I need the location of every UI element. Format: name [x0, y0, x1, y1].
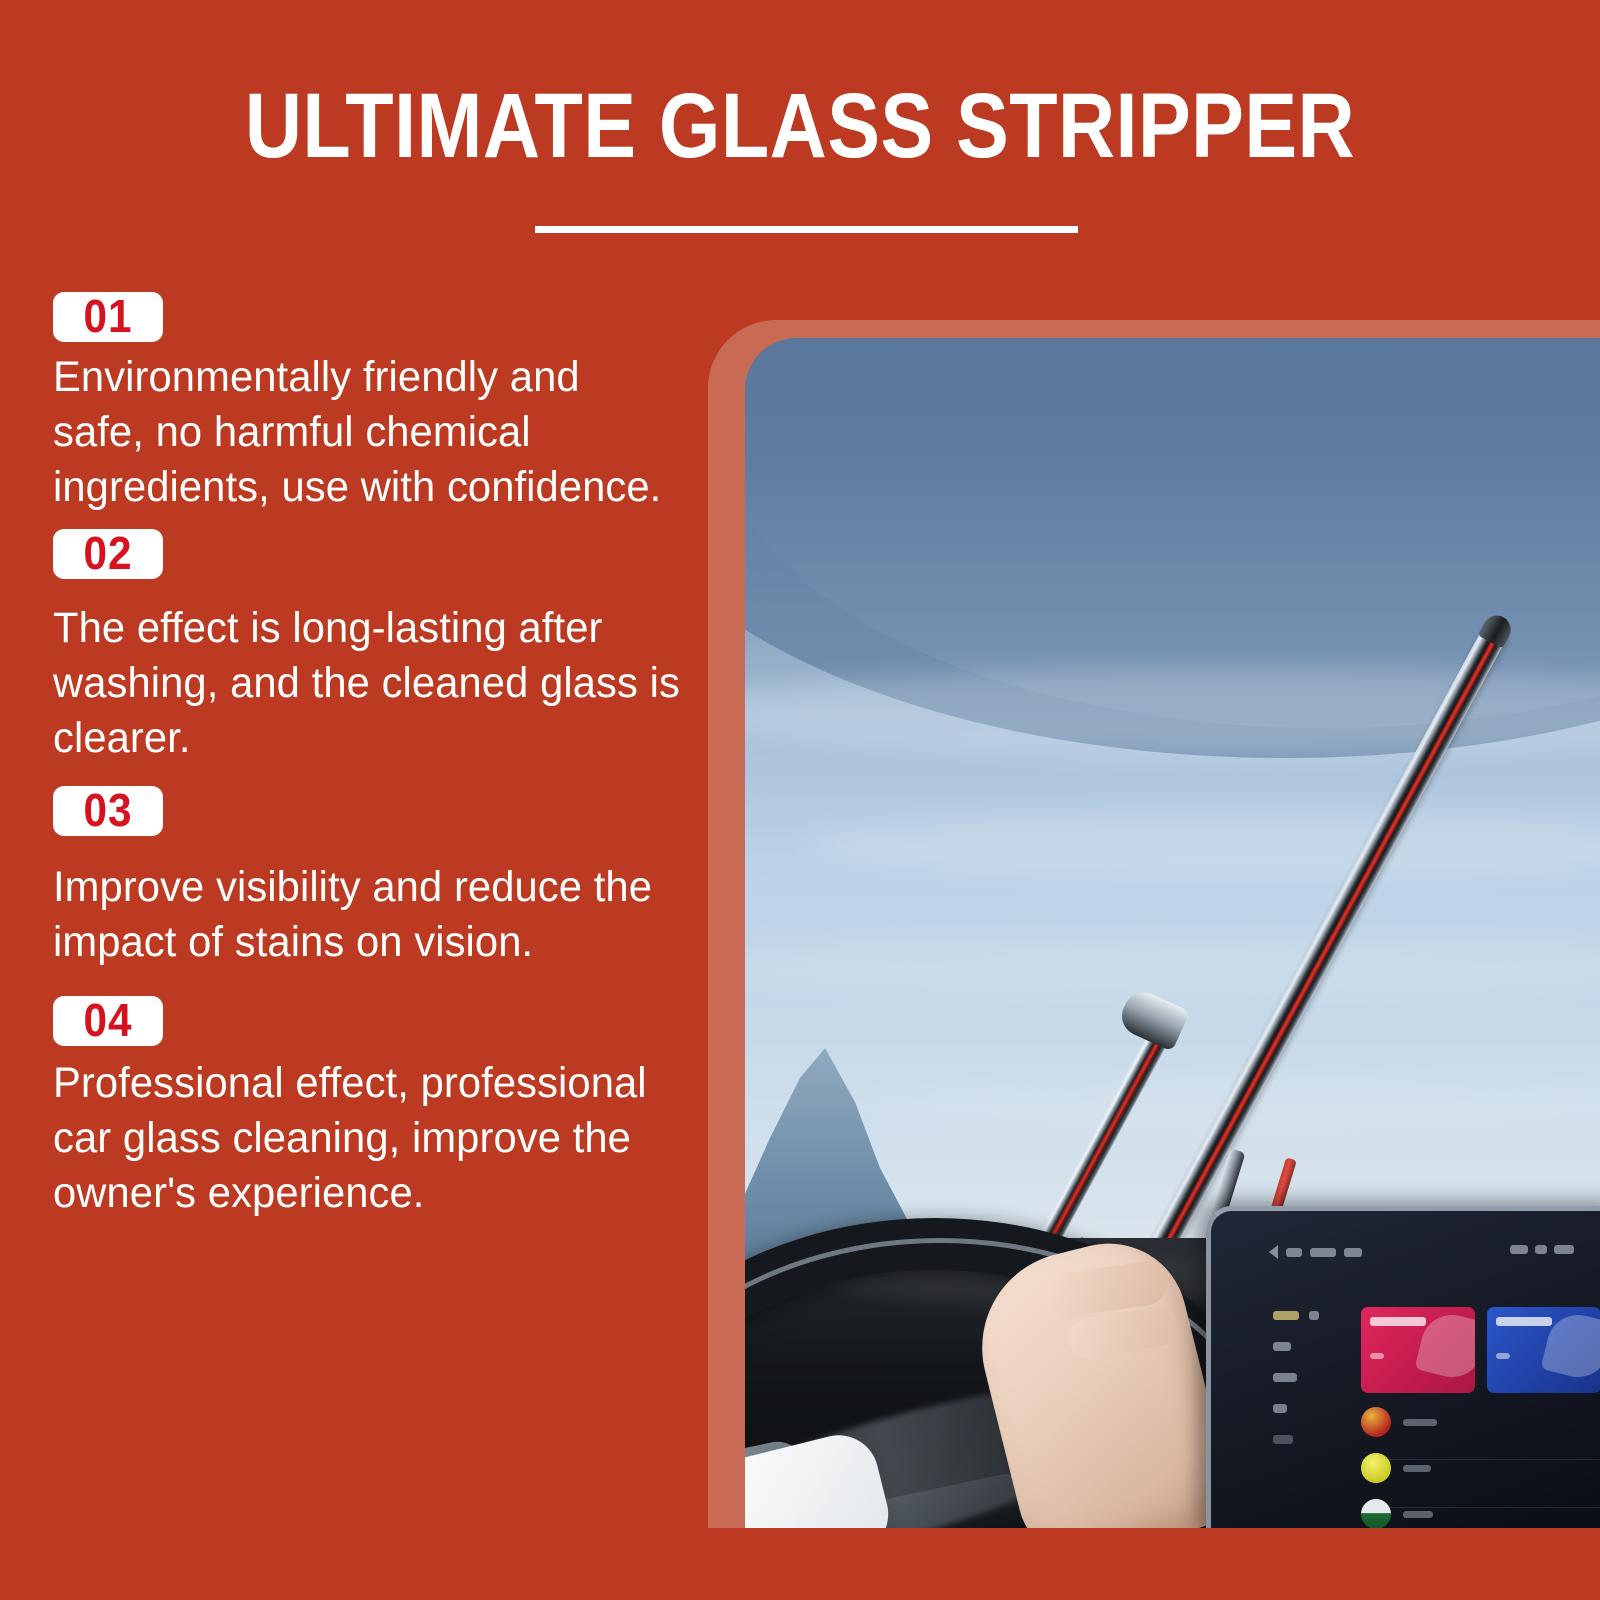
badge-number-01: 01 [78, 294, 139, 338]
media-card-blue [1487, 1307, 1600, 1393]
status-chip [1554, 1245, 1574, 1254]
card-title [1370, 1317, 1426, 1326]
app-label [1403, 1465, 1431, 1472]
status-chip [1535, 1245, 1547, 1254]
feature-list: 01 Environmentally friendly and safe, no… [53, 292, 703, 1221]
sidebar-label [1273, 1373, 1297, 1382]
badge-03: 03 [53, 786, 163, 836]
feature-item-02: 02 The effect is long-lasting after wash… [53, 529, 703, 766]
infotainment-status-right [1510, 1245, 1574, 1254]
badge-04: 04 [53, 996, 163, 1046]
page-title: ULTIMATE GLASS STRIPPER [112, 78, 1488, 175]
status-chip [1310, 1248, 1336, 1257]
app-list-item [1361, 1453, 1437, 1483]
feature-text-03: Improve visibility and reduce the impact… [53, 860, 684, 970]
sidebar-row [1273, 1311, 1319, 1320]
feature-text-01: Environmentally friendly and safe, no ha… [53, 350, 674, 515]
chevron-left-icon [1269, 1245, 1278, 1259]
app-icon-yellow [1361, 1453, 1391, 1483]
feature-text-04: Professional effect, professional car gl… [53, 1056, 684, 1221]
header: ULTIMATE GLASS STRIPPER [0, 0, 1600, 270]
cloud-band [745, 938, 1600, 998]
sidebar-label [1273, 1404, 1287, 1413]
sidebar-label [1273, 1342, 1291, 1351]
feature-item-04: 04 Professional effect, professional car… [53, 996, 703, 1221]
infotainment-screen [1206, 1206, 1600, 1528]
app-list-item [1361, 1499, 1437, 1528]
app-label [1403, 1419, 1437, 1426]
app-list-item [1361, 1407, 1437, 1437]
card-subtitle [1496, 1353, 1510, 1359]
sidebar-icon [1273, 1311, 1299, 1320]
badge-number-04: 04 [78, 998, 139, 1042]
card-subtitle [1370, 1353, 1384, 1359]
infotainment-sidebar [1273, 1311, 1319, 1444]
infotainment-card-row [1361, 1307, 1600, 1393]
feature-item-01: 01 Environmentally friendly and safe, no… [53, 292, 703, 515]
card-title [1496, 1317, 1552, 1326]
sidebar-row [1273, 1404, 1319, 1413]
sidebar-label [1273, 1435, 1293, 1444]
infotainment-statusbar [1269, 1245, 1362, 1259]
badge-01: 01 [53, 292, 163, 342]
feature-item-03: 03 Improve visibility and reduce the imp… [53, 786, 703, 970]
status-chip [1286, 1248, 1302, 1257]
sidebar-row [1273, 1342, 1319, 1351]
app-label [1403, 1511, 1433, 1518]
app-icon-red [1361, 1407, 1391, 1437]
infotainment-app-list [1361, 1407, 1437, 1528]
media-card-pink [1361, 1307, 1475, 1393]
sidebar-label [1309, 1311, 1319, 1320]
status-chip [1510, 1245, 1528, 1254]
product-photo [745, 338, 1600, 1528]
sidebar-row [1273, 1435, 1319, 1444]
title-divider [535, 226, 1078, 233]
status-chip [1344, 1248, 1362, 1257]
badge-number-03: 03 [78, 788, 139, 832]
sidebar-row [1273, 1373, 1319, 1382]
badge-02: 02 [53, 529, 163, 579]
badge-number-02: 02 [78, 531, 139, 575]
feature-text-02: The effect is long-lasting after washing… [53, 601, 684, 766]
app-icon-green [1361, 1499, 1391, 1528]
